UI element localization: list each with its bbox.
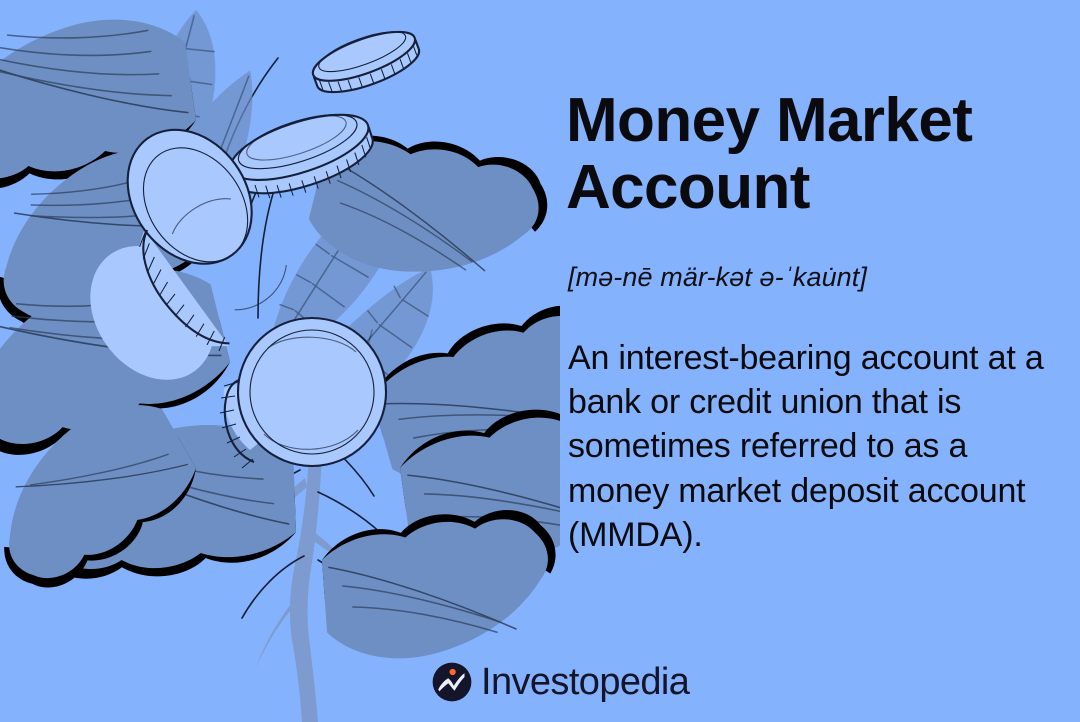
coin-small-top xyxy=(307,21,425,102)
definition-card: .lf-fl { fill:#6e8fc4; } .lf-sh { fill:#… xyxy=(0,0,1080,722)
money-plant-illustration: .lf-fl { fill:#6e8fc4; } .lf-sh { fill:#… xyxy=(0,0,560,722)
investopedia-logo[interactable]: Investopedia xyxy=(432,662,689,702)
term-title: Money Market Account xyxy=(566,88,1036,222)
pronunciation: [mə-nē mär-kət ə-ˈkau̇nt] xyxy=(568,262,867,293)
investopedia-wordmark: Investopedia xyxy=(481,663,689,701)
definition-text: An interest-bearing account at a bank or… xyxy=(568,336,1053,557)
investopedia-circle-arrow-icon xyxy=(432,662,472,702)
text-column: Money Market Account [mə-nē mär-kət ə-ˈk… xyxy=(566,0,1066,722)
